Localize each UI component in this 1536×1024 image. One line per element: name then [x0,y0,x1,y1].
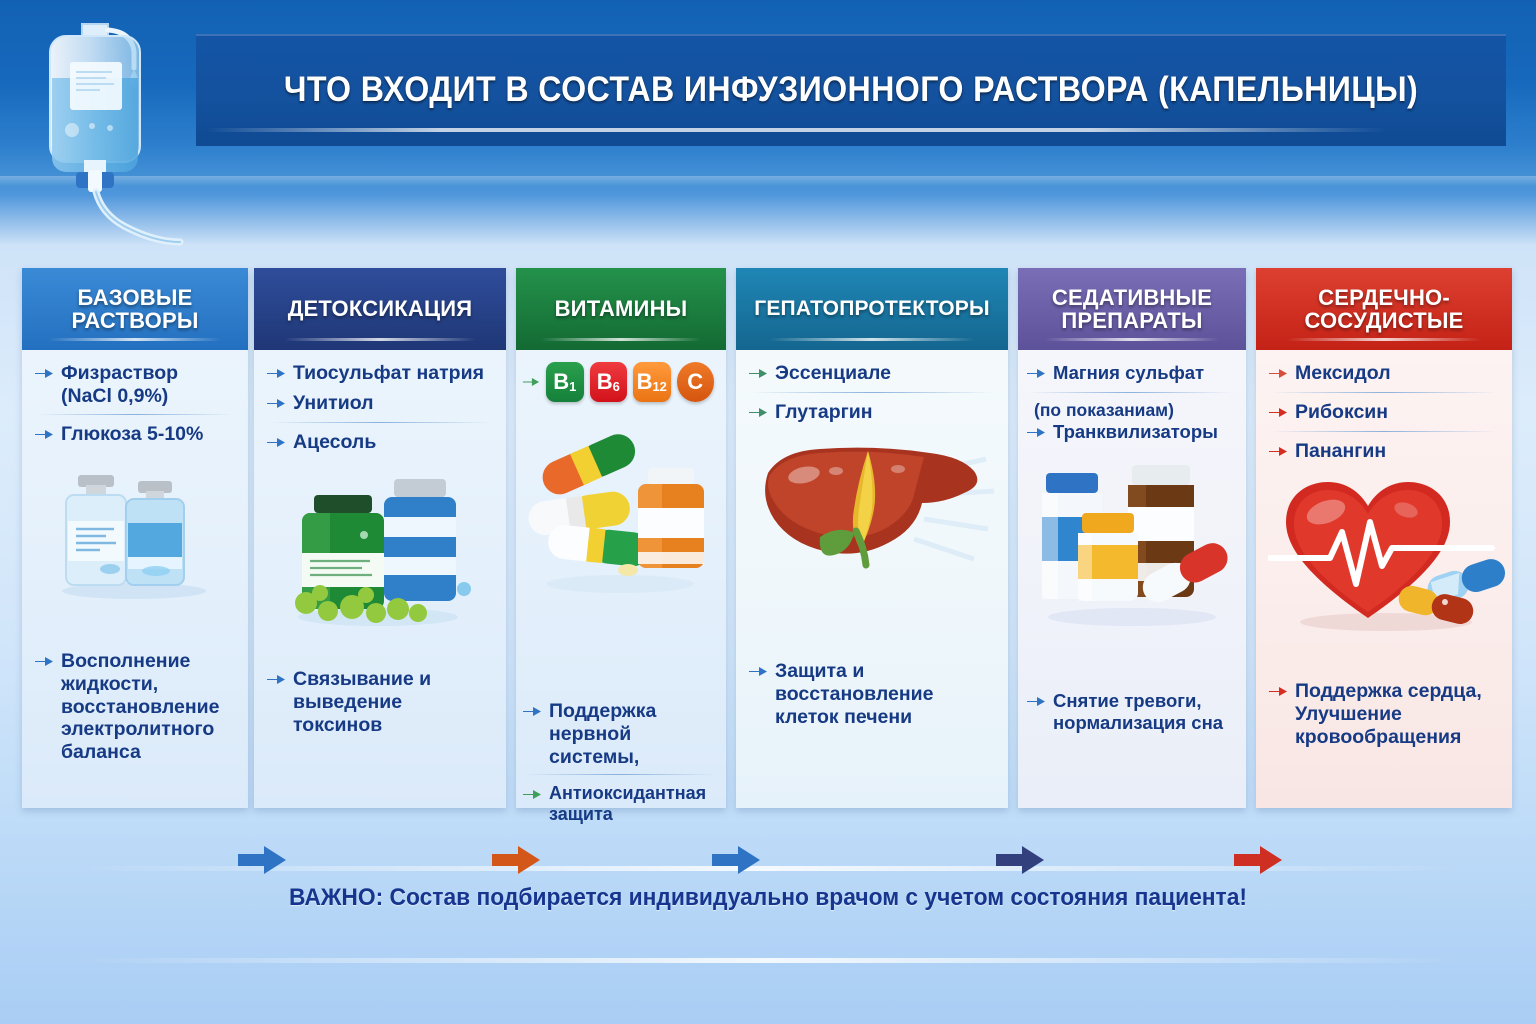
list-item: Глутаргин [748,401,996,425]
card-body-hepatoprotectors: Эссенциале Глутаргин [736,350,1008,808]
list-item-label: Глутаргин [775,401,873,424]
title-bar: ЧТО ВХОДИТ В СОСТАВ ИНФУЗИОННОГО РАСТВОР… [196,34,1506,146]
header-sheen [49,338,221,341]
badge-main: B [597,371,613,393]
footer-divider-bottom [70,958,1466,963]
card-body-cardiovascular: Мексидол Рибоксин Панангин [1256,350,1512,808]
list-item-label: Панангин [1295,440,1386,463]
footer-area: ВАЖНО: Состав подбирается индивидуально … [0,862,1536,972]
effect-label: Антиоксидантная защита [549,783,718,825]
vitamin-badge-row: B1 B6 B12 C [522,362,714,402]
effect-block: Связывание и выведение токсинов [266,668,494,742]
list-item: Панангин [1268,440,1500,464]
card-header-cardiovascular: СЕРДЕЧНО- СОСУДИСТЫЕ [1256,268,1512,350]
separator [524,774,716,775]
footer-note: ВАЖНО: Состав подбирается индивидуально … [38,884,1497,912]
arrow-bullet-icon [748,366,768,386]
arrow-bullet-icon [522,787,542,807]
effect-label: Поддержка сердца, Улучшение кровообращен… [1295,680,1500,748]
effect-item: Снятие тревоги, нормализация сна [1026,690,1234,733]
badge-main: B [637,371,653,393]
badge-sub: 1 [569,380,576,393]
list-item-label: Мексидол [1295,362,1391,385]
arrow-bullet-icon [748,405,768,425]
effect-block: Снятие тревоги, нормализация сна [1026,690,1234,739]
card-title-line1: СЕРДЕЧНО- [1318,285,1450,310]
header-sheen [769,338,976,341]
connector-arrow-3 [712,843,766,877]
effect-item: Связывание и выведение токсинов [266,668,494,736]
card-body-vitamins: B1 B6 B12 C [516,350,726,808]
card-hepatoprotectors[interactable]: ГЕПАТОПРОТЕКТОРЫ Эссенциале Глутаргин [736,268,1008,808]
card-title-line1: ВИТАМИНЫ [555,297,688,320]
connector-arrow-4 [996,843,1050,877]
effect-label: Снятие тревоги, нормализация сна [1053,690,1234,733]
list-item-label: Транквилизаторы [1053,421,1218,443]
list-item-label: Магния сульфат [1053,362,1204,384]
card-detoxification[interactable]: ДЕТОКСИКАЦИЯ Тиосульфат натрия Унитиол [254,268,506,808]
item-line2: (NaCl 0,9%) [61,385,168,407]
arrow-bullet-icon [1026,694,1046,714]
separator [1270,392,1498,393]
card-body-detoxification: Тиосульфат натрия Унитиол Ацесоль [254,350,506,808]
effect-block: Поддержка нервной системы, Антиоксидантн… [522,700,718,832]
effect-label: Связывание и выведение токсинов [293,668,494,736]
card-header-vitamins: ВИТАМИНЫ [516,268,726,350]
capsules-and-pill-bottle-icon [522,412,714,602]
vitamin-badge-b1: B1 [546,362,584,402]
arrow-bullet-icon [266,396,286,416]
arrow-bullet-icon [1026,425,1046,445]
header-sheen [1287,338,1482,341]
effect-item: Поддержка нервной системы, [522,700,718,768]
effect-item: Антиоксидантная защита [522,783,718,825]
arrow-bullet-icon [266,672,286,692]
card-body-sedatives: Магния сульфат (по показаниам) Транквили… [1018,350,1246,808]
arrow-bullet-icon [1026,366,1046,386]
effect-label: Поддержка нервной системы, [549,700,718,768]
badge-main: C [687,371,703,393]
two-glass-vials-icon [34,453,236,603]
badge-sub: 12 [652,380,666,393]
list-item-label: Физраствор (NaCl 0,9%) [61,362,178,408]
card-title-line1: БАЗОВЫЕ [78,285,193,310]
list-item: Рибоксин [1268,401,1500,425]
vitamin-badge-c: C [677,362,715,402]
list-item: Физраствор (NaCl 0,9%) [34,362,236,408]
card-base-solutions[interactable]: БАЗОВЫЕ РАСТВОРЫ Физраствор (NaCl 0,9%) [22,268,248,808]
card-title-line1: СЕДАТИВНЫЕ [1052,285,1212,310]
list-item: Тиосульфат натрия [266,362,494,386]
effect-block: Восполнение жидкости, восстановление эле… [34,650,236,770]
separator [750,392,994,393]
card-sedatives[interactable]: СЕДАТИВНЫЕ ПРЕПАРАТЫ Магния сульфат (по … [1018,268,1246,808]
card-header-detoxification: ДЕТОКСИКАЦИЯ [254,268,506,350]
separator [1028,392,1232,393]
card-cardiovascular[interactable]: СЕРДЕЧНО- СОСУДИСТЫЕ Мексидол Рибоксин [1256,268,1512,808]
arrow-bullet-icon [1268,405,1288,425]
card-header-base-solutions: БАЗОВЫЕ РАСТВОРЫ [22,268,248,350]
arrow-bullet-icon [522,704,542,724]
heart-with-ecg-icon [1268,470,1500,635]
connector-arrow-2 [492,843,546,877]
separator [36,414,234,415]
list-item-label: Унитиол [293,392,374,415]
list-item-label: Ацесоль [293,431,376,454]
iv-drip-bag-icon [26,12,198,262]
card-header-sedatives: СЕДАТИВНЫЕ ПРЕПАРАТЫ [1018,268,1246,350]
header-sheen [1045,338,1218,341]
card-title-line1: ГЕПАТОПРОТЕКТОРЫ [754,298,990,320]
effect-label: Восполнение жидкости, восстановление эле… [61,650,236,764]
arrow-bullet-icon [266,435,286,455]
list-item-label: Тиосульфат натрия [293,362,484,385]
card-vitamins[interactable]: ВИТАМИНЫ B1 B6 B12 C [516,268,726,808]
effect-block: Поддержка сердца, Улучшение кровообращен… [1268,680,1500,754]
card-body-base-solutions: Физраствор (NaCl 0,9%) Глюкоза 5-10% [22,350,248,808]
list-item: Мексидол [1268,362,1500,386]
pill-bottles-and-capsule-icon [1026,451,1234,631]
header-sheen [541,338,701,341]
category-cards: БАЗОВЫЕ РАСТВОРЫ Физраствор (NaCl 0,9%) [0,268,1536,813]
badge-sub: 6 [613,380,620,393]
list-item: Эссенциале [748,362,996,386]
list-item-label: Эссенциале [775,362,891,385]
arrow-bullet-icon [34,427,54,447]
arrow-bullet-icon [266,366,286,386]
effect-label: Защита и восстановление клеток печени [775,660,996,728]
header-sheen [284,338,476,341]
arrow-bullet-icon [1268,366,1288,386]
indication-note: (по показаниам) [1034,401,1234,420]
page-title: ЧТО ВХОДИТ В СОСТАВ ИНФУЗИОННОГО РАСТВОР… [248,34,1453,146]
card-title-line1: ДЕТОКСИКАЦИЯ [288,297,473,320]
connector-arrow-1 [238,843,292,877]
card-title-line2: РАСТВОРЫ [71,308,198,333]
arrow-bullet-icon [1268,684,1288,704]
infographic-canvas: ЧТО ВХОДИТ В СОСТАВ ИНФУЗИОННОГО РАСТВОР… [0,0,1536,1024]
list-item: Глюкоза 5-10% [34,423,236,447]
badge-main: B [553,371,569,393]
arrow-bullet-icon [1268,444,1288,464]
liver-organ-icon [748,433,996,583]
effect-item: Восполнение жидкости, восстановление эле… [34,650,236,764]
list-item-label: Рибоксин [1295,401,1388,424]
effect-item: Защита и восстановление клеток печени [748,660,996,728]
vitamin-badge-b6: B6 [590,362,628,402]
list-item-label: Глюкоза 5-10% [61,423,203,446]
card-header-hepatoprotectors: ГЕПАТОПРОТЕКТОРЫ [736,268,1008,350]
separator [268,422,492,423]
connector-arrow-5 [1234,843,1288,877]
effect-block: Защита и восстановление клеток печени [748,660,996,734]
item-line1: Физраствор [61,362,178,384]
list-item: Транквилизаторы [1026,421,1234,445]
card-title-line2: СОСУДИСТЫЕ [1304,308,1463,333]
arrow-bullet-icon [34,366,54,386]
list-item: Магния сульфат [1026,362,1234,386]
effect-item: Поддержка сердца, Улучшение кровообращен… [1268,680,1500,748]
card-title-line2: ПРЕПАРАТЫ [1061,308,1202,333]
arrow-bullet-icon [748,664,768,684]
arrow-bullet-icon [522,375,540,394]
green-and-blue-bottles-icon [266,461,494,631]
separator [1270,431,1498,432]
list-item: Унитиол [266,392,494,416]
arrow-bullet-icon [34,654,54,674]
vitamin-badge-b12: B12 [633,362,671,402]
list-item: Ацесоль [266,431,494,455]
